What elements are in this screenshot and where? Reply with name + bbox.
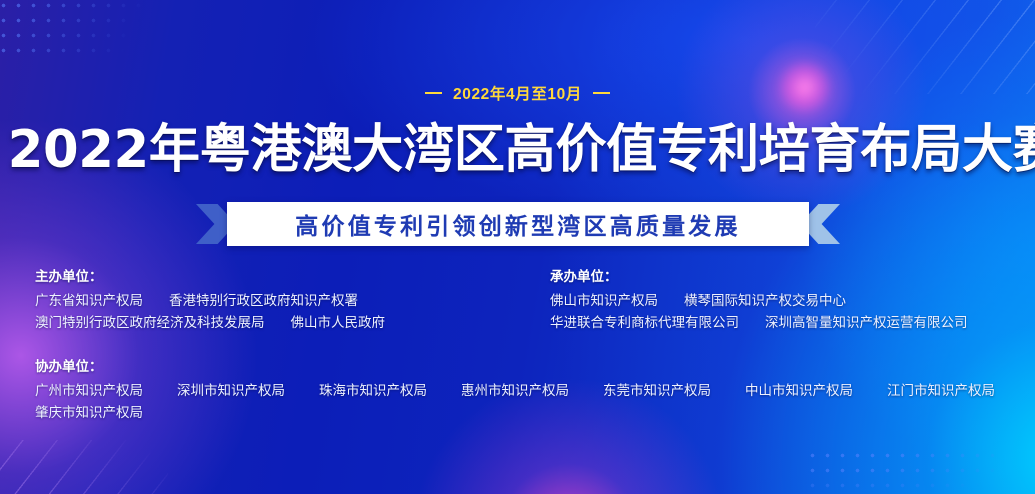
- event-date-row: 2022年4月至10月: [0, 82, 1035, 104]
- co-organizer-name: 惠州市知识产权局: [461, 380, 569, 402]
- host-name: 华进联合专利商标代理有限公司: [550, 312, 739, 334]
- diagonal-lines-top-right: [815, 0, 1035, 94]
- hosts-heading: 承办单位：: [550, 266, 968, 288]
- co-organizers-row: 肇庆市知识产权局: [35, 402, 995, 424]
- diagonal-lines-bottom-left: [0, 440, 168, 494]
- hosts-block: 承办单位： 佛山市知识产权局 横琴国际知识产权交易中心 华进联合专利商标代理有限…: [550, 266, 968, 334]
- dot-grid-pattern-bottom-right: [805, 448, 995, 494]
- host-name: 深圳高智量知识产权运营有限公司: [765, 312, 968, 334]
- hosts-row: 佛山市知识产权局 横琴国际知识产权交易中心: [550, 290, 968, 312]
- host-name: 佛山市知识产权局: [550, 290, 658, 312]
- event-date-text: 2022年4月至10月: [453, 82, 582, 104]
- co-organizer-name: 中山市知识产权局: [745, 380, 853, 402]
- organizers-row: 澳门特别行政区政府经济及科技发展局 佛山市人民政府: [35, 312, 385, 334]
- banner-title: 2022年粤港澳大湾区高价值专利培育布局大赛: [8, 119, 1027, 181]
- hosts-row: 华进联合专利商标代理有限公司 深圳高智量知识产权运营有限公司: [550, 312, 968, 334]
- dot-grid-pattern-top-left: [0, 0, 146, 60]
- co-organizer-name: 东莞市知识产权局: [603, 380, 711, 402]
- co-organizer-name: 江门市知识产权局: [887, 380, 995, 402]
- co-organizers-heading: 协办单位：: [35, 356, 995, 378]
- co-organizer-name: 广州市知识产权局: [35, 380, 143, 402]
- co-organizers-row: 广州市知识产权局 深圳市知识产权局 珠海市知识产权局 惠州市知识产权局 东莞市知…: [35, 380, 995, 402]
- organizer-name: 澳门特别行政区政府经济及科技发展局: [35, 312, 265, 334]
- co-organizer-name: 珠海市知识产权局: [319, 380, 427, 402]
- organizer-name: 广东省知识产权局: [35, 290, 143, 312]
- banner-subtitle: 高价值专利引领创新型湾区高质量发展: [295, 207, 740, 241]
- co-organizer-name: 深圳市知识产权局: [177, 380, 285, 402]
- ribbon-plate: 高价值专利引领创新型湾区高质量发展: [227, 202, 809, 246]
- organizers-heading: 主办单位：: [35, 266, 385, 288]
- competition-banner: 2022年4月至10月 2022年粤港澳大湾区高价值专利培育布局大赛 高价值专利…: [0, 0, 1035, 494]
- organizers-row: 广东省知识产权局 香港特别行政区政府知识产权署: [35, 290, 385, 312]
- organizers-block: 主办单位： 广东省知识产权局 香港特别行政区政府知识产权署 澳门特别行政区政府经…: [35, 266, 385, 334]
- co-organizer-name: 肇庆市知识产权局: [35, 402, 143, 424]
- dash-right-icon: [593, 92, 610, 94]
- dash-left-icon: [425, 92, 442, 94]
- co-organizers-block: 协办单位： 广州市知识产权局 深圳市知识产权局 珠海市知识产权局 惠州市知识产权…: [35, 356, 995, 424]
- host-name: 横琴国际知识产权交易中心: [684, 290, 846, 312]
- organizer-name: 佛山市人民政府: [291, 312, 386, 334]
- organizer-name: 香港特别行政区政府知识产权署: [169, 290, 358, 312]
- subtitle-ribbon: 高价值专利引领创新型湾区高质量发展: [196, 202, 840, 246]
